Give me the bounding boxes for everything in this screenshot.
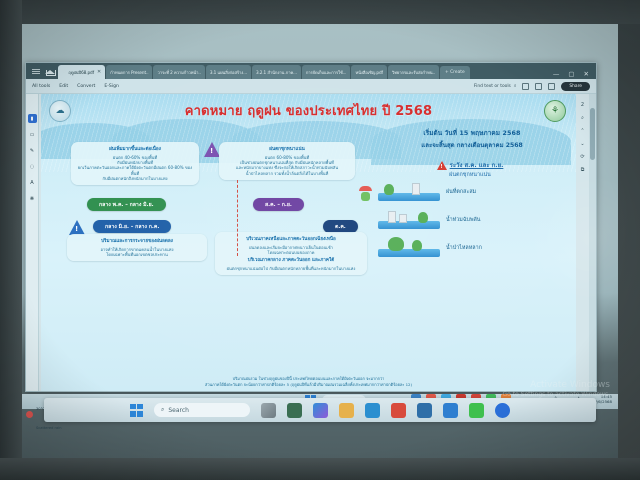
tab-label: กำหนดการ Present.. xyxy=(110,69,148,76)
tab-strip: ☆ ฤดูฝนปี68.pdf ✕ กำหนดการ Present.. วาร… xyxy=(26,63,596,79)
warning-block: ระวัง ส.ค. และ ก.ย. ฝนตกชุกหนาแน่น xyxy=(382,160,558,179)
home-icon[interactable] xyxy=(44,65,56,77)
comment-tool-icon[interactable]: ▭ xyxy=(28,130,37,139)
esign-button[interactable]: E-Sign xyxy=(104,84,119,89)
highlight-tool-icon[interactable]: ◌ xyxy=(28,162,37,171)
tab-label: 3.1 แผนสิ่งก่อสร้าง... xyxy=(210,69,247,76)
card-line: ยกเว้นภาคตะวันออกและภาคใต้ฝั่งตะวันตกมีฝ… xyxy=(77,165,193,176)
stamp-tool-icon[interactable]: ❋ xyxy=(28,194,37,203)
season-start-block: เริ่มต้น วันที่ 15 พฤษภาคม 2568 และจะสิ้… xyxy=(384,128,560,150)
acrobat-toolbar: All tools Edit Convert E-Sign Find text … xyxy=(26,79,596,94)
projected-screen-photo: ☆ ฤดูฝนปี68.pdf ✕ กำหนดการ Present.. วาร… xyxy=(0,0,640,480)
card-heading: ปริมาณและการกระจายของฝนลดลง xyxy=(73,238,201,245)
watermark-line1: Activate Windows xyxy=(503,380,610,390)
tab-label: วาระที่ 2 ความก้าวหน้า.. xyxy=(157,69,200,76)
cloud-upload-icon[interactable] xyxy=(535,83,542,90)
card-line: โดยเฉพาะพื้นที่นอกเขตชลประทาน xyxy=(73,252,201,257)
wall-bottom xyxy=(0,458,640,480)
zoom-icon[interactable] xyxy=(495,403,510,418)
rotate-icon[interactable]: ⟳ xyxy=(580,154,584,160)
card-heading: ฝนตกชุกหนาแน่น xyxy=(225,146,349,153)
tab-label: 3.2.1 สำนักงาน ภาค... xyxy=(256,69,297,76)
toolbar-right-group: Find text or tools ⌕ Share xyxy=(474,82,590,91)
find-tools-input[interactable]: Find text or tools ⌕ xyxy=(474,83,516,89)
activate-windows-watermark: Activate Windows Go to Settings to activ… xyxy=(503,380,610,398)
windows-desktop: ☆ ฤดูฝนปี68.pdf ✕ กำหนดการ Present.. วาร… xyxy=(22,24,618,458)
add-text-tool-icon[interactable]: A xyxy=(28,178,37,187)
card-heading: บริเวณภาคเหนือและภาคตะวันออกเฉียงเหนือ xyxy=(221,236,361,243)
warning-triangle-purple: ! xyxy=(204,142,220,157)
tab-kamnodkan-present[interactable]: กำหนดการ Present.. xyxy=(106,65,152,79)
close-icon[interactable]: ✕ xyxy=(97,69,101,75)
card-jun-jul: ปริมาณและการกระจายของฝนลดลง อาจทำให้เกิด… xyxy=(67,234,207,261)
tab-nangsuechoen[interactable]: หนังสือเชิญ.pdf xyxy=(351,65,387,79)
flash-flood-icon xyxy=(378,210,440,229)
minimize-icon[interactable]: — xyxy=(553,71,560,78)
page-indicator: 2 xyxy=(581,102,584,108)
weather-desc: Scattered rain xyxy=(36,426,61,430)
tab-plan-3-1[interactable]: 3.1 แผนสิ่งก่อสร้าง... xyxy=(206,65,251,79)
forest-runoff-icon xyxy=(378,238,440,257)
search-icon[interactable]: ⌕ xyxy=(514,83,516,89)
wall-left xyxy=(0,0,22,480)
card-line: ฝนตกชุกหนาแน่นต่อไป กับมีฝนตกหนักหลายพื้… xyxy=(221,266,361,271)
tab-label: การจัดเก็บและการใช้... xyxy=(306,69,347,76)
menu-icon[interactable] xyxy=(30,65,42,77)
dashed-divider xyxy=(237,180,238,256)
edge-icon[interactable] xyxy=(365,403,380,418)
tab-label: วิทยากรและรับส่งกำหน.. xyxy=(392,69,435,76)
right-tool-rail: 2 ⌕ ⌃ ⌄ ⟳ ⧉ xyxy=(577,102,588,173)
hazard-label: ฝนที่ตกสะสม xyxy=(446,188,476,196)
tab-plan-3-2-1[interactable]: 3.2.1 สำนักงาน ภาค... xyxy=(252,65,301,79)
card-line: กับมีฝนตกหนักถึงหนักมากในบางแห่ง xyxy=(77,176,193,181)
card-heading: ฝนเพิ่มมากขึ้นและต่อเนื่อง xyxy=(77,146,193,153)
search-icon[interactable]: ⌕ xyxy=(581,115,584,121)
chevron-down-icon[interactable]: ⌄ xyxy=(580,141,584,147)
hazard-list: ฝนที่ตกสะสม น้ำท่วมฉับพลัน xyxy=(378,182,562,266)
card-aug-sep: ฝนตกชุกหนาแน่น ฝนตก 60-80% ของพื้นที่ เป… xyxy=(219,142,355,180)
excel-icon[interactable] xyxy=(287,403,302,418)
hazard-item-forest-runoff: น้ำป่าไหลหลาก xyxy=(378,238,562,257)
hazard-item-accumulated-rain: ฝนที่ตกสะสม xyxy=(378,182,562,201)
hazard-label: น้ำท่วมฉับพลัน xyxy=(446,216,480,224)
vertical-scrollbar[interactable] xyxy=(589,94,596,391)
weather-icon xyxy=(26,411,33,418)
select-tool-icon[interactable]: ▮ xyxy=(28,114,37,123)
card-line: และหนักมากบางแห่ง ซึ่งจะก่อให้เกิดสภาวะน… xyxy=(225,165,349,170)
save-icon[interactable] xyxy=(522,83,529,90)
hazard-label: น้ำป่าไหลหลาก xyxy=(446,244,482,252)
chevron-up-icon[interactable]: ⌃ xyxy=(580,128,584,134)
draw-tool-icon[interactable]: ✎ xyxy=(28,146,37,155)
warning-triangle-icon xyxy=(437,161,447,170)
copy-icon[interactable]: ⧉ xyxy=(581,167,585,173)
card-line: น้ำป่าไหลหลาก รวมทั้งน้ำล้นตลิ่งได้ในบาง… xyxy=(225,171,349,176)
period-pill-aug-sep: ส.ค. – ก.ย. xyxy=(253,198,304,211)
search-placeholder: Search xyxy=(168,407,189,414)
os-taskbar: ⌕ Search xyxy=(44,398,596,422)
period-pill-may-jun: กลาง พ.ค. – กลาง มิ.ย. xyxy=(87,198,166,211)
store-icon[interactable] xyxy=(417,403,432,418)
weather-icon[interactable] xyxy=(261,403,276,418)
line-icon[interactable] xyxy=(469,403,484,418)
page-title: คาดหมาย ฤดูฝน ของประเทศไทย ปี 2568 xyxy=(41,100,576,121)
warning-triangle-blue: ! xyxy=(69,220,85,235)
card-may-jun: ฝนเพิ่มมากขึ้นและต่อเนื่อง ฝนตก 40-60% ข… xyxy=(71,142,199,185)
all-tools-button[interactable]: All tools xyxy=(32,84,50,89)
watermark-line2: Go to Settings to activate Windows. xyxy=(503,391,610,398)
left-tool-palette: ▮ ▭ ✎ ◌ A ❋ xyxy=(26,94,39,391)
vscode-icon[interactable] xyxy=(443,403,458,418)
mascot-umbrella-icon xyxy=(359,186,372,201)
window-controls: — ▢ ✕ xyxy=(553,71,596,80)
tab-wara-2[interactable]: วาระที่ 2 ความก้าวหน้า.. xyxy=(153,65,204,79)
tab-label: ฤดูฝนปี68.pdf xyxy=(68,69,94,76)
tab-label: หนังสือเชิญ.pdf xyxy=(355,69,383,76)
convert-button[interactable]: Convert xyxy=(77,84,95,89)
star-icon: ☆ xyxy=(62,69,66,75)
acrobat-window[interactable]: ☆ ฤดูฝนปี68.pdf ✕ กำหนดการ Present.. วาร… xyxy=(25,62,597,392)
print-icon[interactable] xyxy=(548,83,555,90)
hazard-item-flash-flood: น้ำท่วมฉับพลัน xyxy=(378,210,562,229)
season-start-line2: และจะสิ้นสุด กลางเดือนตุลาคม 2568 xyxy=(384,140,560,150)
footnote-line2: ส่วนภาคใต้ฝั่งตะวันตก จะน้อยกว่าค่าปกติร… xyxy=(47,382,570,387)
wall-top xyxy=(0,0,640,24)
create-tab-button[interactable]: + Create xyxy=(440,66,470,79)
taskbar-search-input[interactable]: ⌕ Search xyxy=(154,403,250,417)
card-line: โดยเฉพาะตอนบนของภาค xyxy=(221,250,361,255)
share-button[interactable]: Share xyxy=(561,82,590,91)
season-start-line1: เริ่มต้น วันที่ 15 พฤษภาคม 2568 xyxy=(384,128,560,138)
tab-ruedufon68[interactable]: ☆ ฤดูฝนปี68.pdf ✕ xyxy=(58,65,105,79)
search-icon: ⌕ xyxy=(161,406,164,414)
file-explorer-icon[interactable] xyxy=(339,403,354,418)
accumulated-rain-icon xyxy=(378,182,440,201)
tab-kanjadkep[interactable]: การจัดเก็บและการใช้... xyxy=(302,65,351,79)
close-window-icon[interactable]: ✕ xyxy=(584,71,589,78)
period-pill-jun-jul: กลาง มิ.ย. – กลาง ก.ค. xyxy=(93,220,171,233)
maximize-icon[interactable]: ▢ xyxy=(568,71,574,78)
tab-witthayakon[interactable]: วิทยากรและรับส่งกำหน.. xyxy=(388,65,439,79)
card-heading: บริเวณภาคกลาง ภาคตะวันออก และภาคใต้ xyxy=(221,257,361,264)
forecast-infographic: ☁ ⚘ คาดหมาย ฤดูฝน ของประเทศไทย ปี 2568 ฝ… xyxy=(41,94,576,391)
copilot-icon[interactable] xyxy=(313,403,328,418)
edit-button[interactable]: Edit xyxy=(59,84,68,89)
warning-subline: ฝนตกชุกหนาแน่น xyxy=(382,171,558,179)
footnote: ปริมาณฝนรวม ในช่วงฤดูฝนของปีนี้ ประเทศไท… xyxy=(47,376,570,387)
windows-start-icon[interactable] xyxy=(130,404,143,417)
find-placeholder: Find text or tools xyxy=(474,84,511,89)
chrome-icon[interactable] xyxy=(391,403,406,418)
warning-headline: ระวัง ส.ค. และ ก.ย. xyxy=(450,160,504,170)
pdf-page-viewport[interactable]: ☁ ⚘ คาดหมาย ฤดูฝน ของประเทศไทย ปี 2568 ฝ… xyxy=(39,94,596,391)
document-area: ▮ ▭ ✎ ◌ A ❋ ☁ xyxy=(26,94,596,391)
scrollbar-thumb[interactable] xyxy=(590,108,595,160)
